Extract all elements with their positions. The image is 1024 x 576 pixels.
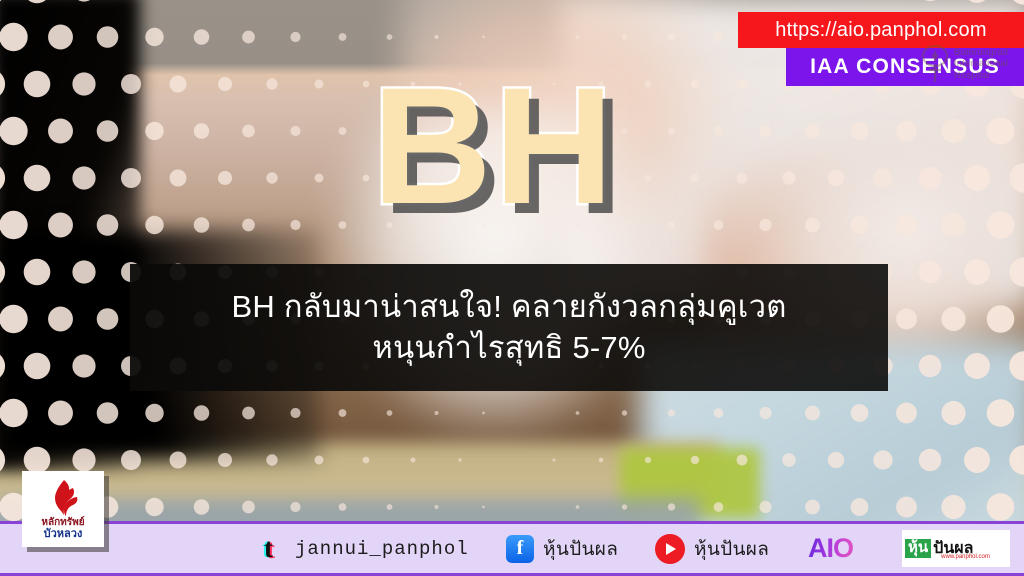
tiktok-handle: jannui_panphol xyxy=(295,538,469,560)
bualuang-securities-logo: หลักทรัพย์ บัวหลวง xyxy=(22,471,104,547)
social-media-poster: BH https://aio.panphol.com IAA CONSENSUS… xyxy=(0,0,1024,576)
facebook-icon: f xyxy=(506,535,534,563)
panphol-green-text: หุ้น xyxy=(905,539,931,558)
headline-panel: BH กลับมาน่าสนใจ! คลายกังวลกลุ่มคูเวต หน… xyxy=(130,264,888,391)
aio-logo[interactable]: AIO xyxy=(808,533,853,564)
bualuang-label-th2: บัวหลวง xyxy=(44,529,83,540)
lotus-flame-icon xyxy=(43,479,83,517)
website-url-banner[interactable]: https://aio.panphol.com xyxy=(738,12,1024,48)
youtube-icon xyxy=(655,534,685,564)
ticker-wordmark: BH xyxy=(372,64,616,230)
iaa-consensus-badge: IAA CONSENSUS xyxy=(786,48,1024,86)
aio-label: AIO xyxy=(808,533,853,563)
social-youtube[interactable]: หุ้นปันผล xyxy=(655,534,769,564)
youtube-label: หุ้นปันผล xyxy=(694,534,769,564)
social-facebook[interactable]: f หุ้นปันผล xyxy=(506,534,618,564)
headline-line-2: หนุนกำไรสุทธิ 5-7% xyxy=(372,328,645,369)
panphol-url: www.panphol.com xyxy=(941,554,990,560)
tiktok-icon: ttt xyxy=(264,535,286,563)
headline-line-1: BH กลับมาน่าสนใจ! คลายกังวลกลุ่มคูเวต xyxy=(231,287,786,328)
facebook-label: หุ้นปันผล xyxy=(543,534,618,564)
panphol-logo[interactable]: หุ้น ปันผล www.panphol.com xyxy=(902,530,1010,567)
bualuang-label-th1: หลักทรัพย์ xyxy=(41,518,84,528)
footer-social-bar: ttt jannui_panphol f หุ้นปันผล หุ้นปันผล… xyxy=(0,521,1024,576)
social-tiktok[interactable]: ttt jannui_panphol xyxy=(264,535,469,563)
